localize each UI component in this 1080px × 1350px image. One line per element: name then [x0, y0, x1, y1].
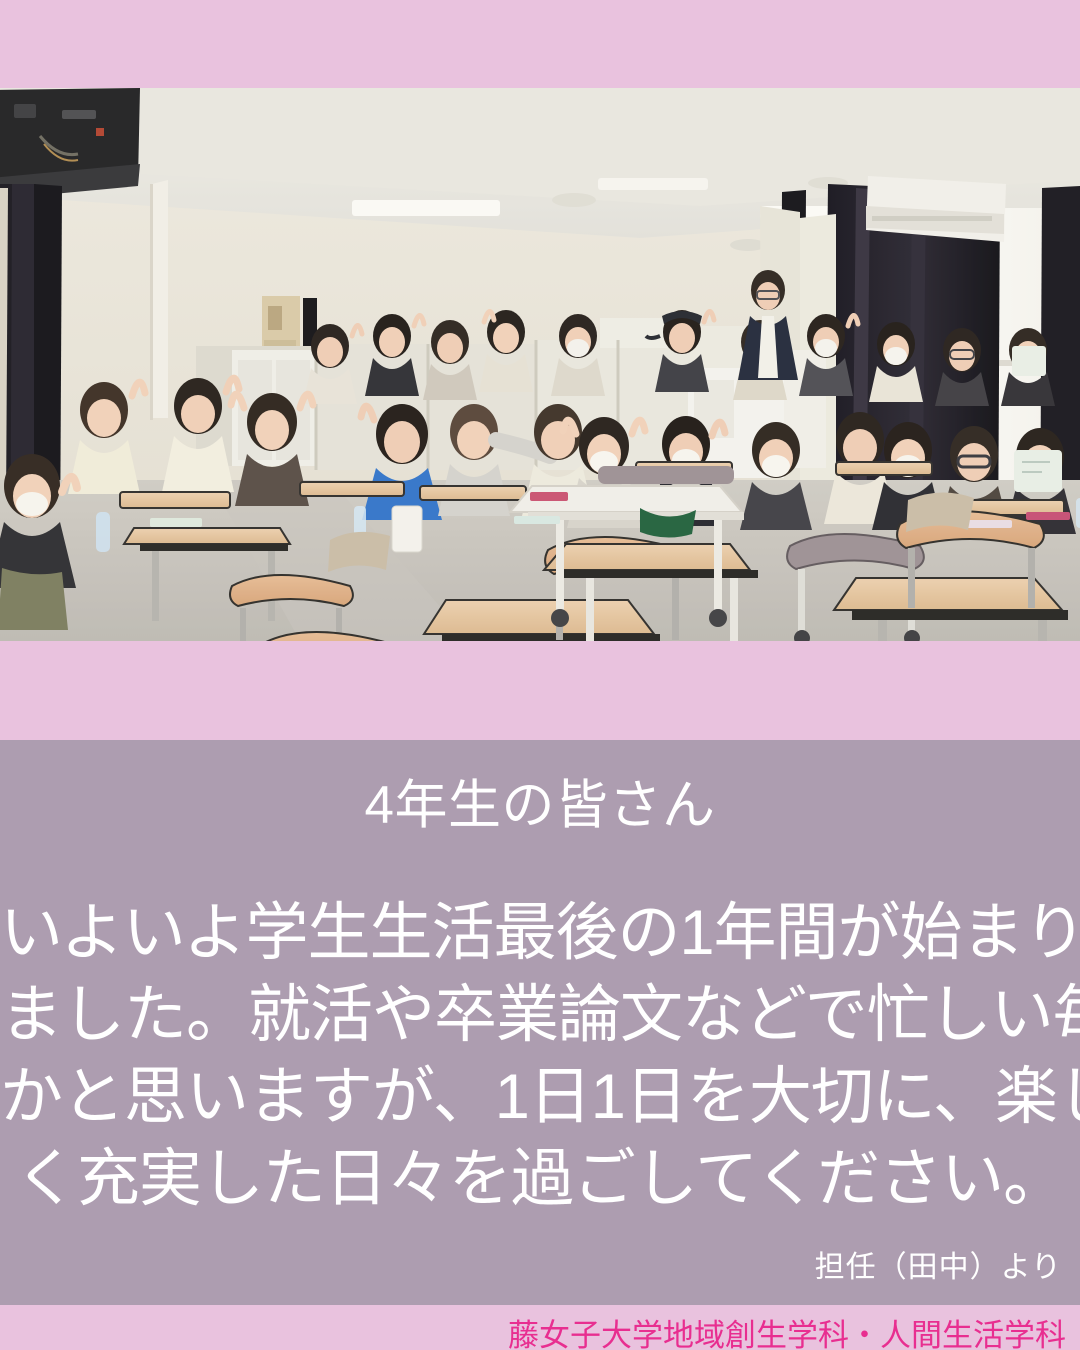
message-body-line: ました。就活や卒業論文などで忙しい毎日 — [0, 974, 1080, 1056]
message-panel: 4年生の皆さん いよいよ学生生活最後の1年間が始まり ました。就活や卒業論文など… — [0, 740, 1080, 1305]
message-body-line: く充実した日々を過ごしてください。 — [0, 1138, 1080, 1220]
message-body-line: いよいよ学生生活最後の1年間が始まり — [0, 892, 1080, 974]
classroom-photo-svg — [0, 88, 1080, 641]
message-body-line: かと思いますが、1日1日を大切に、楽し — [0, 1056, 1080, 1138]
message-body: いよいよ学生生活最後の1年間が始まり ました。就活や卒業論文などで忙しい毎日 か… — [0, 892, 1080, 1220]
classroom-photo — [0, 88, 1080, 641]
footer-organization: 藤女子大学地域創生学科・人間生活学科 — [508, 1310, 1066, 1350]
middle-pink-band — [0, 641, 1080, 740]
poster-root: 4年生の皆さん いよいよ学生生活最後の1年間が始まり ました。就活や卒業論文など… — [0, 0, 1080, 1350]
message-signature: 担任（田中）より — [815, 1242, 1062, 1286]
top-pink-band — [0, 0, 1080, 88]
message-headline: 4年生の皆さん — [0, 778, 1080, 834]
